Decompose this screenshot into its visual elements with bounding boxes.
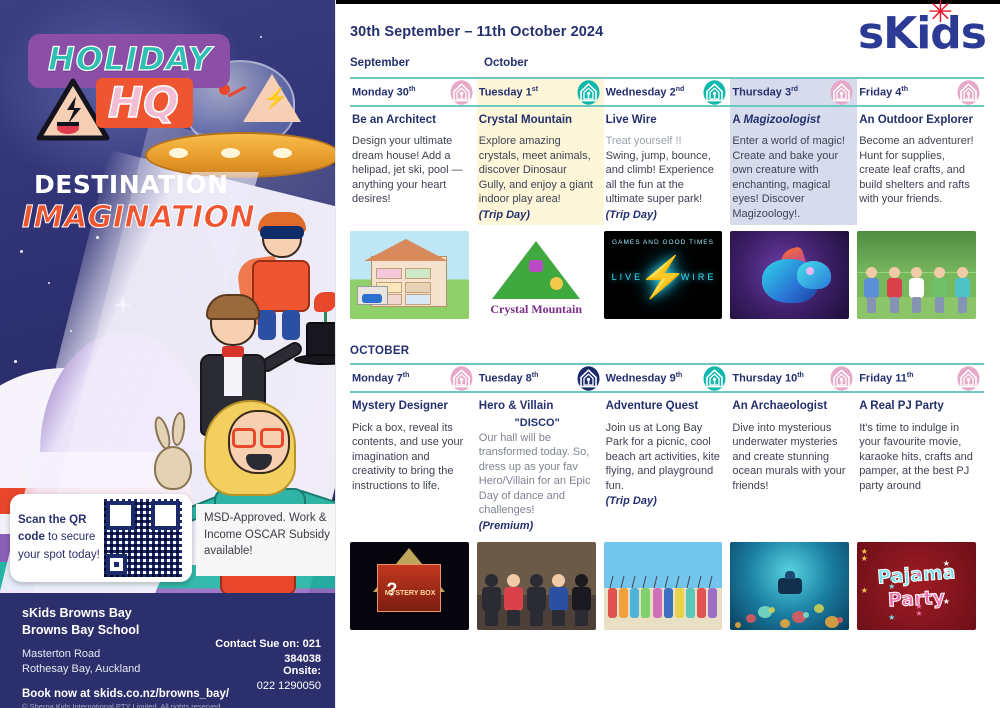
day-activity-body: Live WireTreat yourself !!Swing, jump, b… <box>604 107 731 225</box>
day-activity-body: Hero & Villain"DISCO"Our hall will be tr… <box>477 393 604 535</box>
centre-name: sKids Browns Bay <box>22 605 321 622</box>
skids-logo-text: sKids <box>858 8 986 59</box>
activity-description: Become an adventurer! Hunt for supplies,… <box>859 134 976 207</box>
house-badge-icon <box>577 366 600 391</box>
qr-booking-card[interactable]: Scan the QR code to secure your spot tod… <box>10 494 192 582</box>
activity-description: Design your ultimate dream house! Add a … <box>352 134 469 207</box>
rabbit-illustration <box>146 420 200 490</box>
week-1-day-headers: Monday 30thBe an ArchitectDesign your ul… <box>350 77 984 225</box>
house-badge-icon <box>830 366 853 391</box>
destination-title: DESTINATION <box>34 170 229 199</box>
activity-description: Explore amazing crystals, meet animals, … <box>479 134 596 207</box>
activity-description: Dive into mysterious underwater mysterie… <box>732 421 849 494</box>
week-2-day-headers: Monday 7thMystery DesignerPick a box, re… <box>350 363 984 535</box>
day-name-label: Wednesday 9th <box>606 372 683 385</box>
activity-image-cell <box>857 231 984 319</box>
day-header: Tuesday 1st <box>477 77 604 107</box>
day-name-label: Thursday 3rd <box>732 86 798 99</box>
day-name-label: Thursday 10th <box>732 372 803 385</box>
day-header: Wednesday 9th <box>604 363 731 393</box>
activity-title: A Real PJ Party <box>859 399 976 413</box>
day-column-wednesday-2: Wednesday 2ndLive WireTreat yourself !!S… <box>604 77 731 225</box>
onsite-number: 022 1290050 <box>257 679 321 694</box>
activity-image-cell: ?MYSTERY BOX <box>350 542 477 630</box>
day-activity-body: An Outdoor ExplorerBecome an adventurer!… <box>857 107 984 225</box>
poster-artwork-panel: ⚡ HOLIDAY HQ D <box>0 0 335 708</box>
activity-title: Be an Architect <box>352 113 469 127</box>
activity-title: Live Wire <box>606 113 723 127</box>
house-cutaway-image <box>350 231 469 319</box>
day-column-friday-4: Friday 4thAn Outdoor ExplorerBecome an a… <box>857 77 984 225</box>
day-header: Wednesday 2nd <box>604 77 731 107</box>
livewire-right-text: WIRE <box>681 272 717 282</box>
activity-description: Join us at Long Bay Park for a picnic, c… <box>606 421 723 494</box>
hq-title: HQ <box>108 78 179 127</box>
dragon-creature-image <box>730 231 849 319</box>
day-name-label: Monday 30th <box>352 86 415 99</box>
onsite-contact-block: Onsite: 022 1290050 <box>257 664 321 694</box>
activity-image-cell: GAMES AND GOOD TIMESLIVE⚡WIRE <box>604 231 731 319</box>
qr-instruction-text: Scan the QR code to secure your spot tod… <box>18 512 102 564</box>
crystal-mountain-label: Crystal Mountain <box>477 302 596 317</box>
live-wire-logo: GAMES AND GOOD TIMESLIVE⚡WIRE <box>604 231 723 319</box>
underwater-scene-image <box>730 542 849 630</box>
day-header: Friday 4th <box>857 77 984 107</box>
day-column-thursday-3: Thursday 3rdA MagizoologistEnter a world… <box>730 77 857 225</box>
day-activity-body: A MagizoologistEnter a world of magic! C… <box>730 107 857 225</box>
imagination-title: IMAGINATION <box>22 200 255 235</box>
house-badge-icon <box>957 80 980 105</box>
activity-title: Adventure Quest <box>606 399 723 413</box>
day-name-label: Friday 11th <box>859 372 913 385</box>
holiday-programme-poster: ⚡ HOLIDAY HQ D <box>0 0 1000 708</box>
day-name-label: Friday 4th <box>859 86 908 99</box>
activity-tag: (Trip Day) <box>479 209 596 221</box>
contact-footer: sKids Browns Bay Browns Bay School Maste… <box>0 593 335 708</box>
day-header: Monday 30th <box>350 77 477 107</box>
onsite-label: Onsite: <box>257 664 321 679</box>
day-name-label: Tuesday 1st <box>479 86 538 99</box>
activity-image-cell <box>730 542 857 630</box>
house-badge-icon <box>957 366 980 391</box>
activity-image-cell: PajamaParty★★★★★★★★★★★★ <box>857 542 984 630</box>
superhero-costumes-image <box>477 542 596 630</box>
activity-image-cell <box>730 231 857 319</box>
day-column-monday-30: Monday 30thBe an ArchitectDesign your ul… <box>350 77 477 225</box>
day-header: Friday 11th <box>857 363 984 393</box>
activity-image-cell <box>604 542 731 630</box>
hq-title-box: HQ <box>96 78 193 128</box>
mystery-box-image: ?MYSTERY BOX <box>350 542 469 630</box>
activity-image-cell <box>350 231 477 319</box>
holiday-title: HOLIDAY <box>48 40 212 78</box>
skids-logo-star-icon: ✳ <box>928 0 952 28</box>
day-activity-body: Crystal MountainExplore amazing crystals… <box>477 107 604 225</box>
activity-image-cell <box>477 542 604 630</box>
week-1-images: Crystal MountainGAMES AND GOOD TIMESLIVE… <box>350 231 984 319</box>
activity-title: Crystal Mountain <box>479 113 596 127</box>
activity-title: Hero & Villain <box>479 399 596 413</box>
crystal-mountain-logo: Crystal Mountain <box>477 231 596 319</box>
activity-description: It's time to indulge in your favourite m… <box>859 421 976 494</box>
top-hat-icon <box>298 322 335 362</box>
contact-person-label: Contact Sue on: 021 <box>215 637 321 652</box>
activity-tag: (Trip Day) <box>606 495 723 507</box>
activity-subtitle: "DISCO" <box>479 417 596 429</box>
day-column-tuesday-8: Tuesday 8thHero & Villain"DISCO"Our hall… <box>477 363 604 535</box>
house-badge-icon <box>703 366 726 391</box>
day-name-label: Monday 7th <box>352 372 409 385</box>
children-outdoors-image <box>857 231 976 319</box>
day-column-wednesday-9: Wednesday 9thAdventure QuestJoin us at L… <box>604 363 731 535</box>
day-header: Monday 7th <box>350 363 477 393</box>
day-column-friday-11: Friday 11thA Real PJ PartyIt's time to i… <box>857 363 984 535</box>
activity-title: A Magizoologist <box>732 113 849 127</box>
day-column-monday-7: Monday 7thMystery DesignerPick a box, re… <box>350 363 477 535</box>
activity-image-cell: Crystal Mountain <box>477 231 604 319</box>
day-activity-body: Adventure QuestJoin us at Long Bay Park … <box>604 393 731 511</box>
activity-description: Pick a box, reveal its contents, and use… <box>352 421 469 494</box>
day-activity-body: Mystery DesignerPick a box, reveal its c… <box>350 393 477 511</box>
day-activity-body: A Real PJ PartyIt's time to indulge in y… <box>857 393 984 511</box>
qr-code-image[interactable] <box>104 499 182 577</box>
calendar-panel: 30th September – 11th October 2024 ✳sKid… <box>335 0 1000 708</box>
house-badge-icon <box>703 80 726 105</box>
week-2-images: ?MYSTERY BOXPajamaParty★★★★★★★★★★★★ <box>350 542 984 630</box>
activity-title: An Archaeologist <box>732 399 849 413</box>
week-2: Monday 7thMystery DesignerPick a box, re… <box>350 363 984 629</box>
day-activity-body: Be an ArchitectDesign your ultimate drea… <box>350 107 477 225</box>
house-badge-icon <box>577 80 600 105</box>
pajama-party-image: PajamaParty★★★★★★★★★★★★ <box>857 542 976 630</box>
house-badge-icon <box>450 366 473 391</box>
activity-tag: (Premium) <box>479 520 596 532</box>
activity-title: Mystery Designer <box>352 399 469 413</box>
house-badge-icon <box>830 80 853 105</box>
top-black-bar <box>336 0 1000 4</box>
house-badge-icon <box>450 80 473 105</box>
activity-description: Our hall will be transformed today. So, … <box>479 431 596 518</box>
poster-title-block: HOLIDAY HQ <box>28 34 230 148</box>
day-header: Thursday 3rd <box>730 77 857 107</box>
activity-tag: (Trip Day) <box>606 209 723 221</box>
day-header: Tuesday 8th <box>477 363 604 393</box>
day-header: Thursday 10th <box>730 363 857 393</box>
day-activity-body: An ArchaeologistDive into mysterious und… <box>730 393 857 511</box>
livewire-tagline: GAMES AND GOOD TIMES <box>604 239 723 246</box>
month-label-october: October <box>484 57 528 69</box>
day-name-label: Tuesday 8th <box>479 372 539 385</box>
month-label-september: September <box>350 57 409 69</box>
october-section-heading: OCTOBER <box>350 345 984 357</box>
msd-subsidy-note: MSD-Approved. Work & Income OSCAR Subsid… <box>196 504 335 576</box>
day-name-label: Wednesday 2nd <box>606 86 685 99</box>
phone-contact-block: Contact Sue on: 021 384038 <box>215 637 321 667</box>
activity-title: An Outdoor Explorer <box>859 113 976 127</box>
activity-description: Enter a world of magic! Create and bake … <box>732 134 849 221</box>
week-1: Monday 30thBe an ArchitectDesign your ul… <box>350 77 984 319</box>
beach-kids-image <box>604 542 723 630</box>
copyright-text: © Sherpa Kids International PTY Limited.… <box>22 702 321 708</box>
activity-description: Treat yourself !!Swing, jump, bounce, an… <box>606 134 723 207</box>
day-column-thursday-10: Thursday 10thAn ArchaeologistDive into m… <box>730 363 857 535</box>
day-column-tuesday-1: Tuesday 1stCrystal MountainExplore amazi… <box>477 77 604 225</box>
skids-logo: ✳sKids <box>858 12 986 56</box>
